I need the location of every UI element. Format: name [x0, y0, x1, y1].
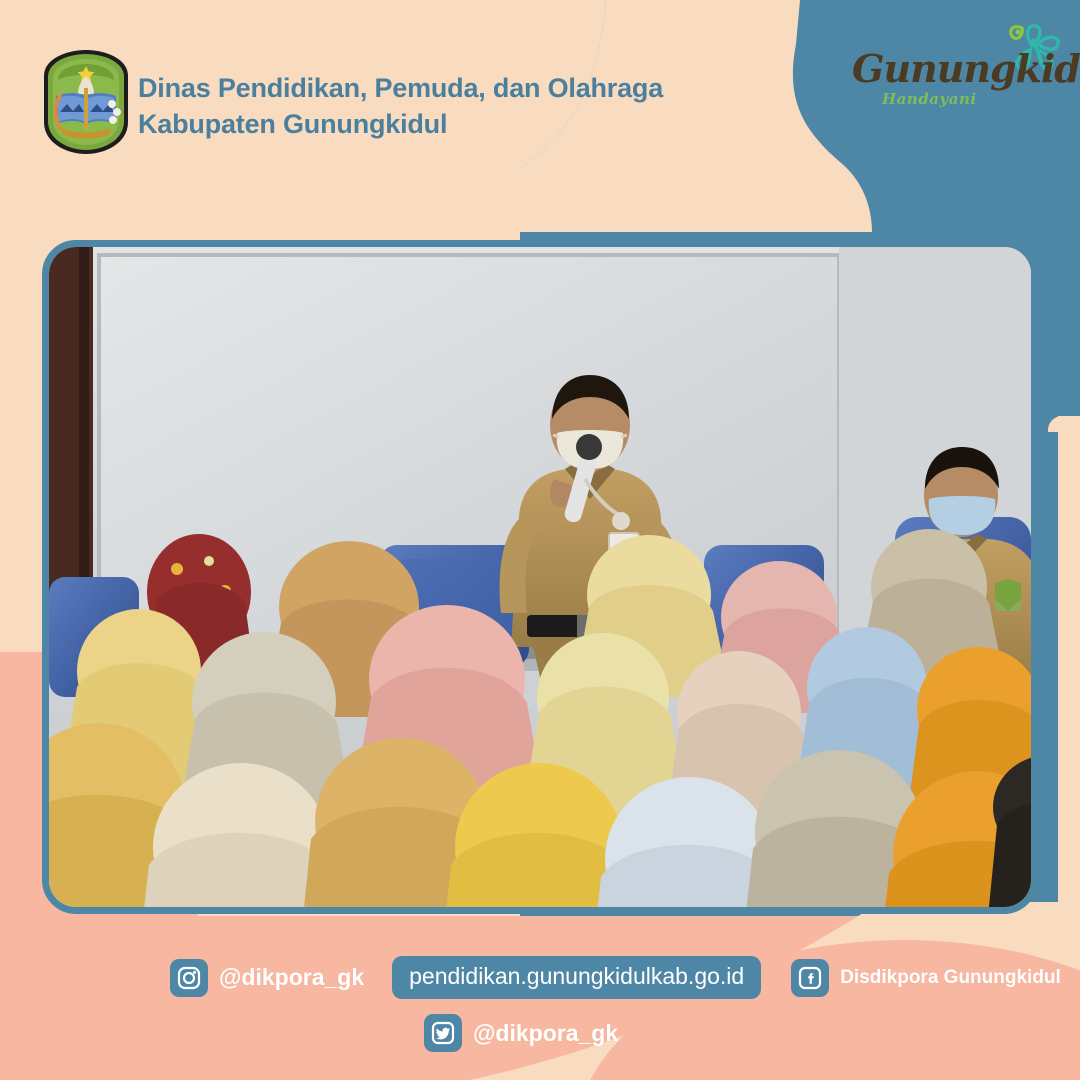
- social-footer: @dikpora_gk pendidikan.gunungkidulkab.go…: [0, 930, 1080, 1080]
- twitter-icon[interactable]: [424, 1014, 462, 1052]
- instagram-handle[interactable]: @dikpora_gk: [219, 964, 364, 991]
- title-line-1: Dinas Pendidikan, Pemuda, dan Olahraga: [138, 70, 663, 106]
- website-url-pill[interactable]: pendidikan.gunungkidulkab.go.id: [392, 956, 761, 999]
- gunungkidul-handayani-logo: Gunungkidul Handayani: [852, 40, 1072, 126]
- photo-illustration: [49, 247, 1031, 907]
- footer-row-primary: @dikpora_gk pendidikan.gunungkidulkab.go…: [170, 956, 1061, 999]
- title-line-2: Kabupaten Gunungkidul: [138, 106, 663, 142]
- photo-frame: [42, 240, 1038, 914]
- facebook-page-name[interactable]: Disdikpora Gunungkidul: [840, 967, 1061, 989]
- poster-canvas: Dinas Pendidikan, Pemuda, dan Olahraga K…: [0, 0, 1080, 1080]
- instagram-icon[interactable]: [170, 959, 208, 997]
- facebook-icon[interactable]: [791, 959, 829, 997]
- event-photograph: [49, 247, 1031, 907]
- brand-wordmark: Gunungkidul: [852, 46, 1080, 91]
- brand-tagline: Handayani: [882, 90, 977, 108]
- twitter-handle[interactable]: @dikpora_gk: [473, 1020, 618, 1047]
- page-title: Dinas Pendidikan, Pemuda, dan Olahraga K…: [138, 70, 663, 142]
- gunungkidul-regency-crest-icon: [40, 48, 132, 156]
- poster-header: Dinas Pendidikan, Pemuda, dan Olahraga K…: [0, 0, 860, 200]
- footer-row-secondary: @dikpora_gk: [424, 1014, 618, 1052]
